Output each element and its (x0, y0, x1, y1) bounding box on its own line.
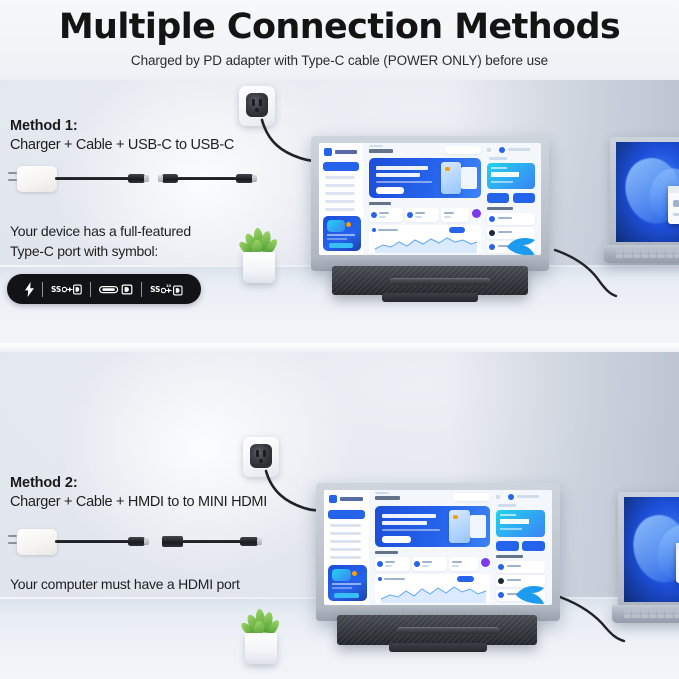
add-asset-button[interactable] (472, 209, 481, 218)
page-subtitle: Charged by PD adapter with Type-C cable … (0, 53, 679, 68)
sidebar-item[interactable] (325, 192, 355, 195)
monitor-screen (319, 143, 541, 255)
monitor-stand-foot (382, 293, 478, 302)
dashboard-logo-text (340, 497, 363, 501)
laptop-key (674, 614, 679, 618)
transaction-icon (498, 592, 504, 598)
laptop-key (641, 614, 648, 618)
laptop-key (641, 249, 648, 253)
hero-card-mockup (470, 515, 486, 538)
balance-label (491, 167, 507, 169)
coin-name (422, 561, 432, 563)
laptop-key (624, 254, 631, 258)
promo-chip (346, 222, 351, 227)
superspeed-label-2: SS (150, 285, 160, 294)
market-activity-chart (369, 225, 481, 253)
laptop-key (657, 249, 664, 253)
laptop-screen (616, 142, 679, 242)
chart-line (375, 584, 490, 603)
hero-phone-mockup (441, 162, 461, 194)
coin-value (385, 565, 392, 567)
stand-slot (390, 278, 490, 285)
send-button[interactable] (487, 193, 509, 203)
laptop-key (665, 609, 672, 613)
coin-name (379, 212, 389, 214)
transaction-icon (498, 564, 504, 570)
portfolio-card (369, 208, 403, 222)
hero-phone-mockup (449, 510, 470, 543)
market-activity-chart (375, 574, 490, 603)
wall-power-outlet (239, 86, 275, 126)
dashboard-search-input[interactable] (445, 146, 481, 154)
dashboard-search-input[interactable] (453, 493, 490, 501)
usb-c-connector-1-tip (144, 175, 149, 182)
method-2-note-line-1: Your computer must have a HDMI port (10, 576, 240, 592)
laptop-key (674, 609, 679, 613)
user-name (508, 148, 530, 151)
laptop-key (649, 254, 656, 258)
sidebar-item[interactable] (325, 208, 355, 211)
coin-icon (414, 561, 420, 567)
pd-wall-charger (17, 529, 57, 555)
send-button[interactable] (496, 541, 519, 551)
chart-icon (378, 577, 382, 581)
hero-cta-button[interactable] (382, 536, 411, 543)
portable-monitor (311, 136, 549, 271)
monitor-stand (332, 266, 528, 295)
card-number (500, 528, 522, 530)
lightning-bolt-icon (18, 274, 41, 304)
panel-divider (0, 343, 679, 352)
dialog-icon[interactable] (673, 200, 679, 207)
laptop-screen (624, 497, 679, 602)
page-title: Multiple Connection Methods (0, 7, 679, 47)
outlet-hole-right (263, 450, 266, 457)
balance-amount (491, 172, 519, 177)
dialog-text (673, 213, 679, 216)
balance-card (487, 163, 535, 189)
laptop-key (666, 249, 673, 253)
promo-graphic (332, 569, 351, 581)
outlet-hole-ground (259, 459, 263, 463)
portfolio-card (449, 557, 478, 571)
sidebar-promo-card[interactable] (328, 565, 367, 601)
sidebar-item[interactable] (325, 200, 355, 203)
stand-slot (397, 627, 499, 634)
method-2-panel: Method 2: Charger + Cable + HMDI to to M… (0, 352, 679, 679)
laptop-key (666, 254, 673, 258)
sidebar-item[interactable] (330, 548, 361, 551)
user-name (517, 495, 539, 498)
outlet-receptacle (250, 444, 272, 468)
hero-card-mockup (461, 167, 477, 189)
hero-subtitle (376, 181, 432, 183)
receive-button[interactable] (522, 541, 545, 551)
transaction-name (507, 565, 521, 567)
promo-graphic (327, 220, 345, 232)
laptop-key (649, 614, 656, 618)
header: Multiple Connection Methods Charged by P… (0, 0, 679, 80)
superspeed-label-1: SS (51, 285, 61, 294)
bird-mascot-icon (514, 583, 548, 605)
hdmi-connector (162, 536, 183, 547)
method-2-note: Your computer must have a HDMI port (10, 574, 240, 594)
outlet-hole-left (252, 99, 255, 106)
laptop-key (657, 609, 664, 613)
dashboard-page-title (369, 149, 393, 153)
laptop-key (616, 254, 623, 258)
laptop-key (674, 249, 679, 253)
transaction-name (507, 579, 521, 581)
coin-value (444, 216, 451, 218)
laptop-key (632, 614, 639, 618)
usb-c-connector-3-tip (252, 175, 257, 182)
usb-c-port-displayport-icon (92, 274, 140, 304)
windows-laptop (604, 137, 679, 277)
hero-chip (453, 515, 458, 519)
coin-name (452, 561, 462, 563)
laptop-key (657, 614, 664, 618)
coin-name (385, 561, 395, 563)
usb-c-cable (176, 177, 238, 180)
laptop-key (674, 254, 679, 258)
wallet-section-title (498, 504, 516, 507)
laptop-key (657, 254, 664, 258)
monitor-screen (324, 490, 552, 605)
laptop-key (641, 609, 648, 613)
chart-icon (372, 228, 376, 232)
hero-banner (375, 506, 490, 547)
outlet-hole-left (256, 450, 259, 457)
windows-dialog[interactable] (668, 186, 679, 224)
dialog-titlebar (668, 186, 679, 193)
coin-name (415, 212, 425, 214)
dashboard-breadcrumb (369, 145, 383, 147)
portfolio-card (405, 208, 439, 222)
sidebar-promo-card[interactable] (323, 216, 361, 251)
charger-cord (55, 177, 130, 180)
coin-value (422, 565, 429, 567)
outlet-hole-ground (255, 108, 259, 112)
promo-button[interactable] (329, 243, 353, 248)
method-1-label: Method 1: (10, 118, 78, 134)
infographic-page: Multiple Connection Methods Charged by P… (0, 0, 679, 679)
receive-button[interactable] (513, 193, 535, 203)
hdmi-cable (182, 540, 242, 543)
method-1-note-line-2: Type-C port with symbol: (10, 243, 158, 259)
notification-icon[interactable] (496, 495, 500, 499)
laptop-key (624, 249, 631, 253)
method-1-note-line-1: Your device has a full-featured (10, 223, 191, 239)
coin-value (415, 216, 422, 218)
add-asset-button[interactable] (481, 558, 490, 567)
transactions-title (496, 555, 523, 558)
sidebar-item[interactable] (325, 176, 355, 179)
transaction-row (496, 561, 545, 573)
wallet-section-title (489, 157, 507, 160)
wall-power-outlet (243, 437, 279, 477)
outlet-receptacle (246, 93, 268, 117)
laptop-key (649, 609, 656, 613)
transactions-title (487, 207, 513, 210)
balance-label (500, 514, 516, 516)
card-number (491, 181, 513, 183)
dashboard-logo-icon (329, 495, 337, 503)
bird-mascot-icon (505, 235, 539, 255)
coin-name (444, 212, 454, 214)
pd-wall-charger (17, 166, 57, 192)
charger-cord (55, 540, 130, 543)
hero-subtitle (382, 529, 440, 531)
hero-title-line-1 (382, 514, 436, 518)
portfolio-card (441, 208, 469, 222)
chart-title (384, 578, 405, 580)
usb-c-connector-2-tip (158, 175, 163, 182)
chart-title (378, 229, 398, 231)
pill-separator-1 (42, 282, 43, 297)
dashboard-logo-icon (324, 148, 332, 156)
coin-value (379, 216, 386, 218)
hero-cta-button[interactable] (376, 187, 404, 194)
promo-line (332, 583, 361, 585)
sidebar-item[interactable] (330, 556, 361, 559)
laptop-key (641, 254, 648, 258)
pill-separator-3 (141, 282, 142, 297)
superspeed-usb-10gbps-icon: SS 10 (143, 274, 190, 304)
method-2-label: Method 2: (10, 475, 78, 491)
laptop-key (665, 614, 672, 618)
laptop-keyboard[interactable] (624, 609, 679, 618)
hero-banner (369, 158, 481, 198)
promo-chip (352, 571, 357, 576)
chart-line (369, 235, 481, 253)
outlet-hole-right (259, 99, 262, 106)
transaction-icon (489, 216, 495, 222)
sidebar-item-dashboard[interactable] (323, 162, 359, 171)
transaction-name (498, 217, 512, 219)
transaction-icon (498, 578, 504, 584)
sidebar-item-dashboard[interactable] (328, 510, 365, 519)
hero-title-line-1 (376, 166, 428, 170)
hero-title-line-2 (376, 173, 420, 177)
sidebar-item[interactable] (330, 532, 361, 535)
transaction-icon (489, 230, 495, 236)
dashboard-page-title (375, 496, 400, 500)
svg-text:10: 10 (166, 284, 172, 288)
superspeed-usb-dp-icon: SS (44, 274, 89, 304)
usb-c-connector-3 (236, 174, 253, 183)
method-1-description: Charger + Cable + USB-C to USB-C (10, 137, 234, 153)
coin-icon (377, 561, 383, 567)
pill-separator-2 (90, 282, 91, 297)
method-2-description: Charger + Cable + HMDI to to MINI HDMI (10, 494, 267, 510)
sidebar-item[interactable] (330, 524, 361, 527)
laptop-key (633, 254, 640, 258)
type-c-symbol-pill: SS SS (7, 274, 201, 304)
usb-c-connector-1 (128, 537, 145, 546)
notification-icon[interactable] (487, 148, 491, 152)
monitor-stand-foot (389, 643, 487, 652)
mini-hdmi-connector-tip (257, 538, 262, 545)
dashboard-breadcrumb (375, 492, 389, 494)
promo-line (332, 587, 352, 589)
chart-range-selector[interactable] (457, 576, 474, 582)
wall-highlight (54, 352, 354, 579)
portfolio-section-title (375, 551, 398, 554)
laptop-key (624, 609, 631, 613)
hero-chip (445, 167, 450, 171)
laptop-key (649, 249, 656, 253)
avatar[interactable] (499, 147, 505, 153)
coin-value (452, 565, 459, 567)
portfolio-card (412, 557, 447, 571)
method-1-note: Your device has a full-featured Type-C p… (10, 221, 191, 262)
plant-pot (245, 633, 277, 664)
promo-button[interactable] (334, 593, 359, 598)
sidebar-item[interactable] (330, 540, 361, 543)
avatar[interactable] (508, 494, 514, 500)
sidebar-item[interactable] (325, 184, 355, 187)
balance-amount (500, 519, 529, 524)
mini-hdmi-connector (240, 537, 258, 546)
method-1-panel: Method 1: Charger + Cable + USB-C to USB… (0, 80, 679, 345)
promo-line (327, 234, 355, 236)
coin-icon (371, 212, 377, 218)
monitor-stand (337, 615, 537, 645)
usb-c-connector-1-tip (144, 538, 149, 545)
windows-laptop (612, 492, 679, 637)
portfolio-card (375, 557, 410, 571)
laptop-keyboard[interactable] (616, 249, 679, 258)
hero-title-line-2 (382, 521, 427, 525)
balance-card (496, 510, 545, 537)
transaction-row (487, 213, 535, 225)
laptop-key (633, 249, 640, 253)
plant-pot (243, 252, 275, 283)
portable-monitor (316, 483, 560, 621)
promo-line (327, 238, 347, 240)
laptop-key (624, 614, 631, 618)
usb-c-connector-1 (128, 174, 145, 183)
portfolio-section-title (369, 202, 391, 205)
crypto-dashboard (319, 143, 541, 255)
laptop-key (632, 609, 639, 613)
laptop-key (616, 249, 623, 253)
dashboard-logo-text (335, 150, 357, 154)
crypto-dashboard (324, 490, 552, 605)
coin-icon (407, 212, 413, 218)
transaction-name (498, 231, 512, 233)
transaction-icon (489, 244, 495, 250)
chart-range-selector[interactable] (449, 227, 465, 233)
